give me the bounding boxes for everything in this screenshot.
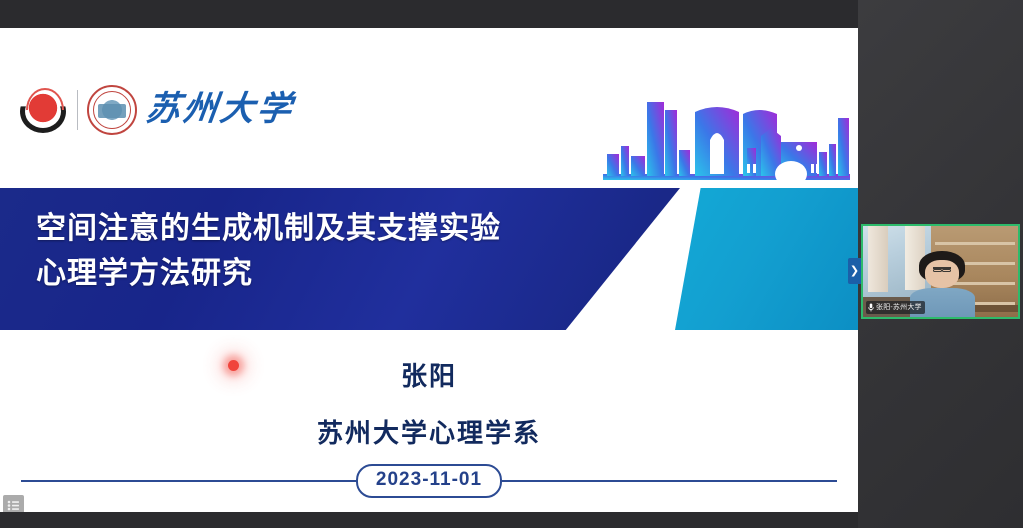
title-banner-cyan: [675, 188, 858, 330]
participant-video-tile[interactable]: 张阳-苏州大学: [861, 224, 1020, 319]
slide-date-row: 2023-11-01: [0, 466, 858, 496]
suzhou-skyline-icon: [595, 88, 858, 185]
presenter-affiliation: 苏州大学心理学系: [0, 413, 858, 450]
laser-pointer-dot: [228, 360, 239, 371]
slide-date: 2023-11-01: [356, 464, 502, 498]
curtain-left: [868, 226, 888, 292]
date-rule-right: [502, 480, 837, 482]
participant-name: 张阳-苏州大学: [876, 304, 922, 311]
slide-title-line-1: 空间注意的生成机制及其支撑实验: [36, 206, 636, 251]
microphone-icon: [868, 303, 874, 312]
shared-slide: 苏州大学: [0, 28, 858, 512]
chevron-right-icon[interactable]: ❯: [848, 258, 861, 284]
date-rule-left: [21, 480, 356, 482]
bottom-bar: [0, 512, 858, 528]
glasses-icon: [933, 267, 952, 269]
university-seal-red-icon: [18, 85, 68, 135]
university-seal-blue-icon: [87, 85, 137, 135]
logo-divider: [77, 90, 78, 130]
participant-name-label: 张阳-苏州大学: [866, 301, 925, 314]
top-bar: [0, 0, 858, 28]
presenter-name: 张阳: [0, 356, 858, 393]
slide-logo-row: 苏州大学: [18, 85, 294, 135]
list-icon[interactable]: [3, 495, 24, 512]
meeting-window: 苏州大学: [0, 0, 1023, 528]
presenter-block: 张阳 苏州大学心理学系: [0, 356, 858, 450]
slide-title: 空间注意的生成机制及其支撑实验 心理学方法研究: [36, 206, 636, 296]
university-wordmark: 苏州大学: [144, 93, 296, 127]
face: [925, 260, 959, 288]
slide-title-line-2: 心理学方法研究: [36, 251, 636, 296]
